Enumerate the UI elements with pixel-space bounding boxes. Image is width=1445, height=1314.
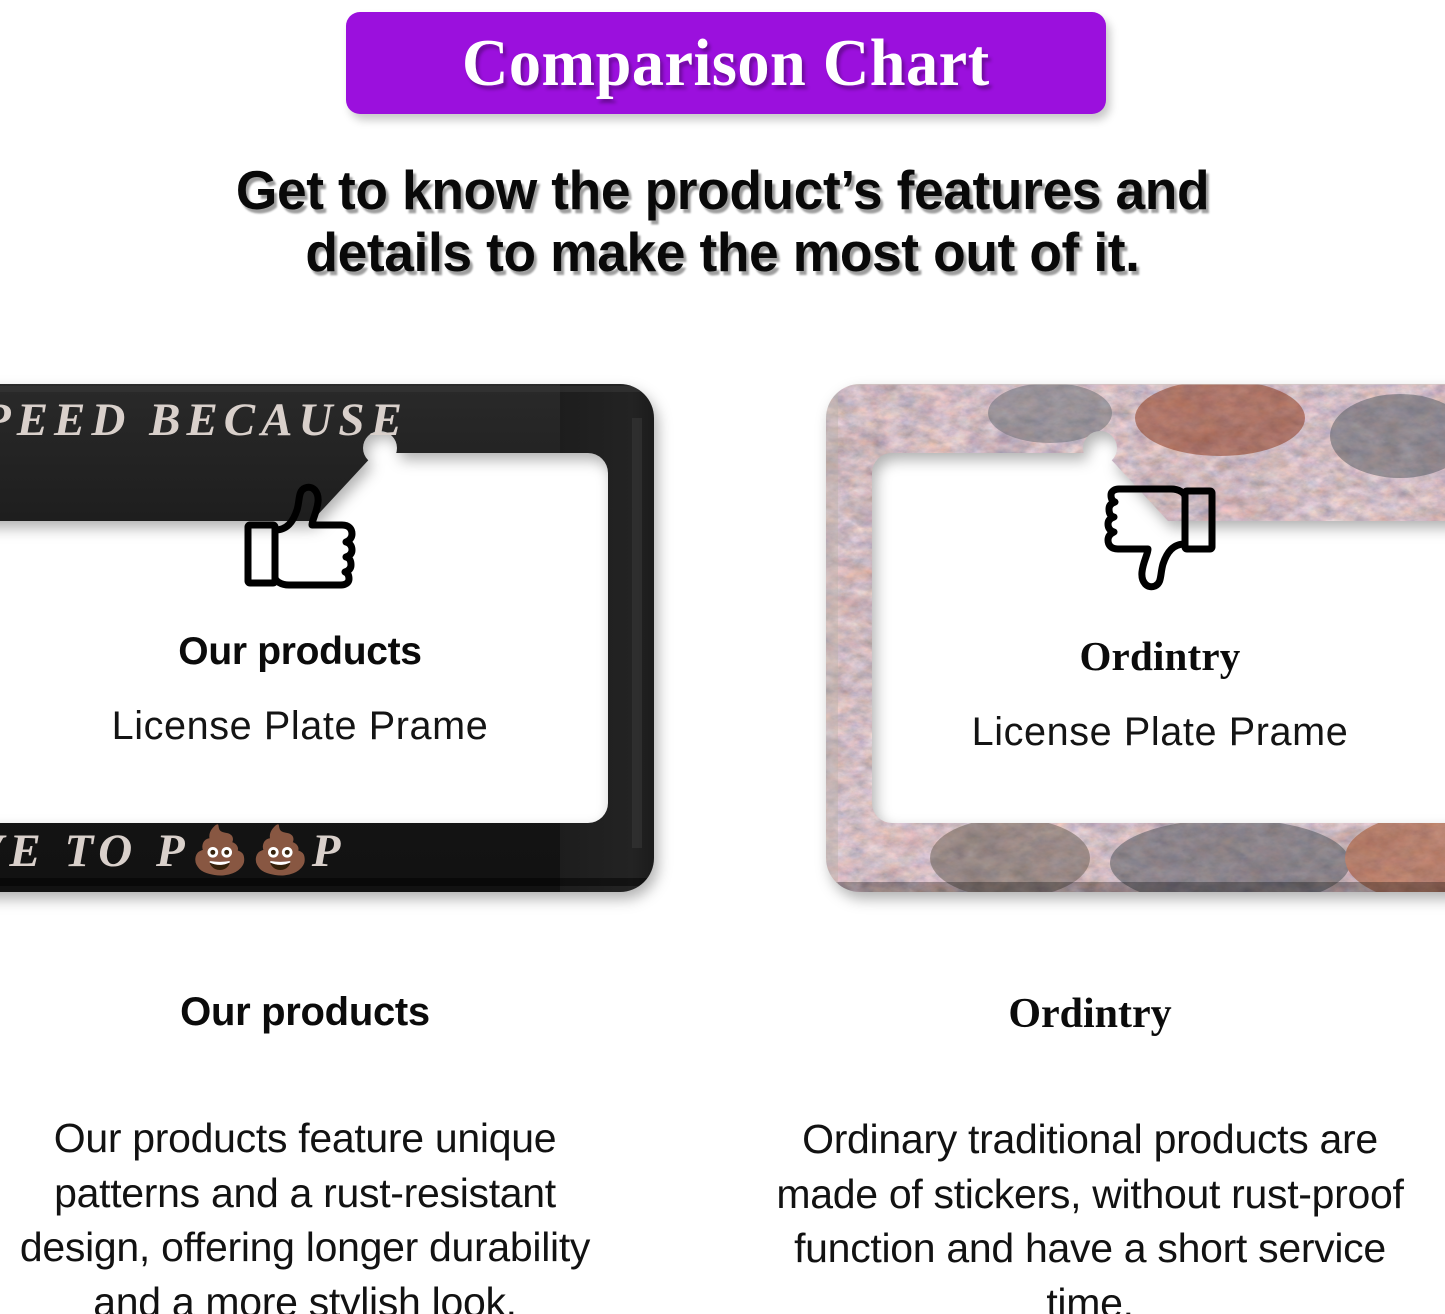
page-title: Comparison Chart — [462, 25, 990, 102]
ordinary-product-detail-body: Ordinary traditional products are made o… — [745, 1112, 1435, 1314]
plate-deco-bottom-text: VE TO P💩💩P — [0, 823, 346, 878]
deco-bottom-tail: P — [312, 825, 347, 877]
poop-emoji-glyphs: 💩💩 — [191, 825, 312, 877]
our-product-detail-body: Our products feature unique patterns and… — [0, 1111, 650, 1314]
our-product-plate-title: Our products — [20, 630, 580, 674]
thumbs-up-icon — [241, 482, 359, 590]
comparison-chart-page: Comparison Chart Get to know the product… — [0, 0, 1445, 1314]
ordinary-product-detail-column: Ordintry Ordinary traditional products a… — [745, 990, 1435, 1314]
plate-deco-top-text: PEED BECAUSE — [0, 393, 408, 447]
ordinary-product-plate-subtitle: License Plate Prame — [883, 710, 1437, 755]
ordinary-product-plate-title: Ordintry — [880, 632, 1440, 680]
our-product-detail-heading: Our products — [0, 990, 650, 1035]
comparison-detail-columns: Our products Our products feature unique… — [0, 990, 1445, 1314]
page-subtitle: Get to know the product’s features and d… — [0, 160, 1445, 283]
title-banner: Comparison Chart — [346, 12, 1106, 114]
subtitle-line-1: Get to know the product’s features and — [22, 160, 1424, 222]
our-product-plate-content: Our products License Plate Prame — [20, 482, 580, 749]
ordinary-product-detail-heading: Ordintry — [745, 990, 1435, 1038]
our-product-plate-subtitle: License Plate Prame — [23, 704, 577, 749]
subtitle-line-2: details to make the most out of it. — [22, 222, 1424, 284]
ordinary-product-plate-content: Ordintry License Plate Prame — [880, 484, 1440, 755]
thumbs-down-icon — [1101, 484, 1219, 592]
deco-bottom-lead: VE TO P — [0, 825, 191, 877]
our-product-detail-column: Our products Our products feature unique… — [0, 990, 650, 1314]
product-images-row: PEED BECAUSE — [0, 340, 1445, 940]
